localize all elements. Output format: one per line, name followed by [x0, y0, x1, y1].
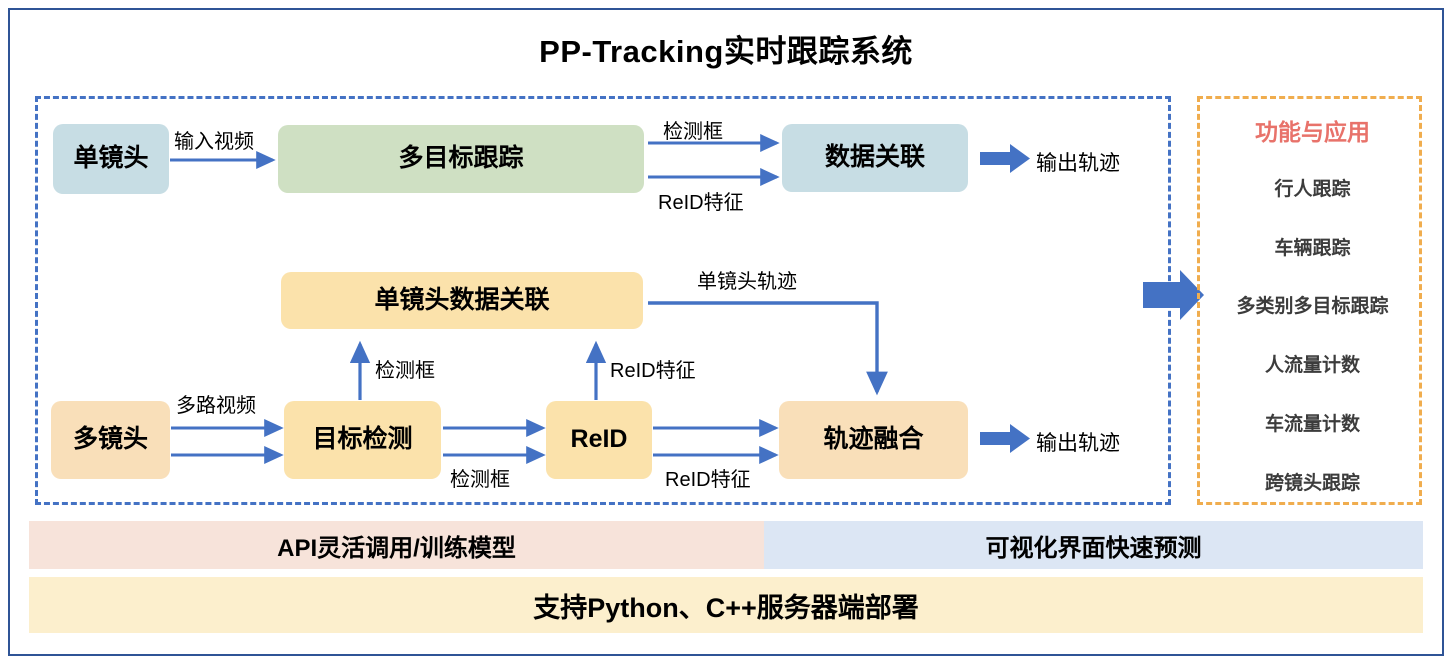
node-object-detection[interactable]: 目标检测 [284, 401, 441, 479]
node-reid[interactable]: ReID [546, 401, 652, 479]
application-item-1[interactable]: 行人跟踪 [1200, 174, 1425, 201]
edge-label-reid-feature-top: ReID特征 [658, 186, 744, 215]
applications-panel: 功能与应用 行人跟踪 车辆跟踪 多类别多目标跟踪 人流量计数 车流量计数 跨镜头… [1197, 96, 1422, 505]
applications-title: 功能与应用 [1200, 113, 1425, 147]
node-multi-object-tracking[interactable]: 多目标跟踪 [278, 125, 644, 193]
output-label-trajectory-top: 输出轨迹 [1036, 147, 1120, 177]
edge-label-detection-box-top: 检测框 [663, 115, 723, 144]
bar-api-flexible-call[interactable]: API灵活调用/训练模型 [29, 521, 764, 569]
edge-label-detection-box-up: 检测框 [375, 354, 435, 383]
edge-label-input-video: 输入视频 [174, 125, 254, 154]
application-item-6[interactable]: 跨镜头跟踪 [1200, 468, 1425, 495]
application-item-2[interactable]: 车辆跟踪 [1200, 233, 1425, 260]
edge-label-detection-box-mid: 检测框 [450, 463, 510, 492]
edge-label-multi-stream-video: 多路视频 [176, 389, 256, 418]
edge-label-reid-feature-mid: ReID特征 [665, 463, 751, 492]
application-item-5[interactable]: 车流量计数 [1200, 409, 1425, 436]
edge-label-reid-feature-up: ReID特征 [610, 354, 696, 383]
node-data-association[interactable]: 数据关联 [782, 124, 968, 192]
node-trajectory-fusion[interactable]: 轨迹融合 [779, 401, 968, 479]
edge-label-single-camera-trajectory: 单镜头轨迹 [697, 265, 797, 294]
node-single-camera-data-association[interactable]: 单镜头数据关联 [281, 272, 643, 329]
bar-server-deployment[interactable]: 支持Python、C++服务器端部署 [29, 577, 1423, 633]
node-single-camera[interactable]: 单镜头 [53, 124, 169, 194]
page-title: PP-Tracking实时跟踪系统 [0, 26, 1452, 71]
node-multi-camera[interactable]: 多镜头 [51, 401, 170, 479]
bar-visual-interface[interactable]: 可视化界面快速预测 [764, 521, 1423, 569]
output-label-trajectory-bottom: 输出轨迹 [1036, 427, 1120, 457]
application-item-4[interactable]: 人流量计数 [1200, 350, 1425, 377]
application-item-3[interactable]: 多类别多目标跟踪 [1200, 291, 1425, 318]
diagram-canvas: PP-Tracking实时跟踪系统 [0, 0, 1452, 664]
